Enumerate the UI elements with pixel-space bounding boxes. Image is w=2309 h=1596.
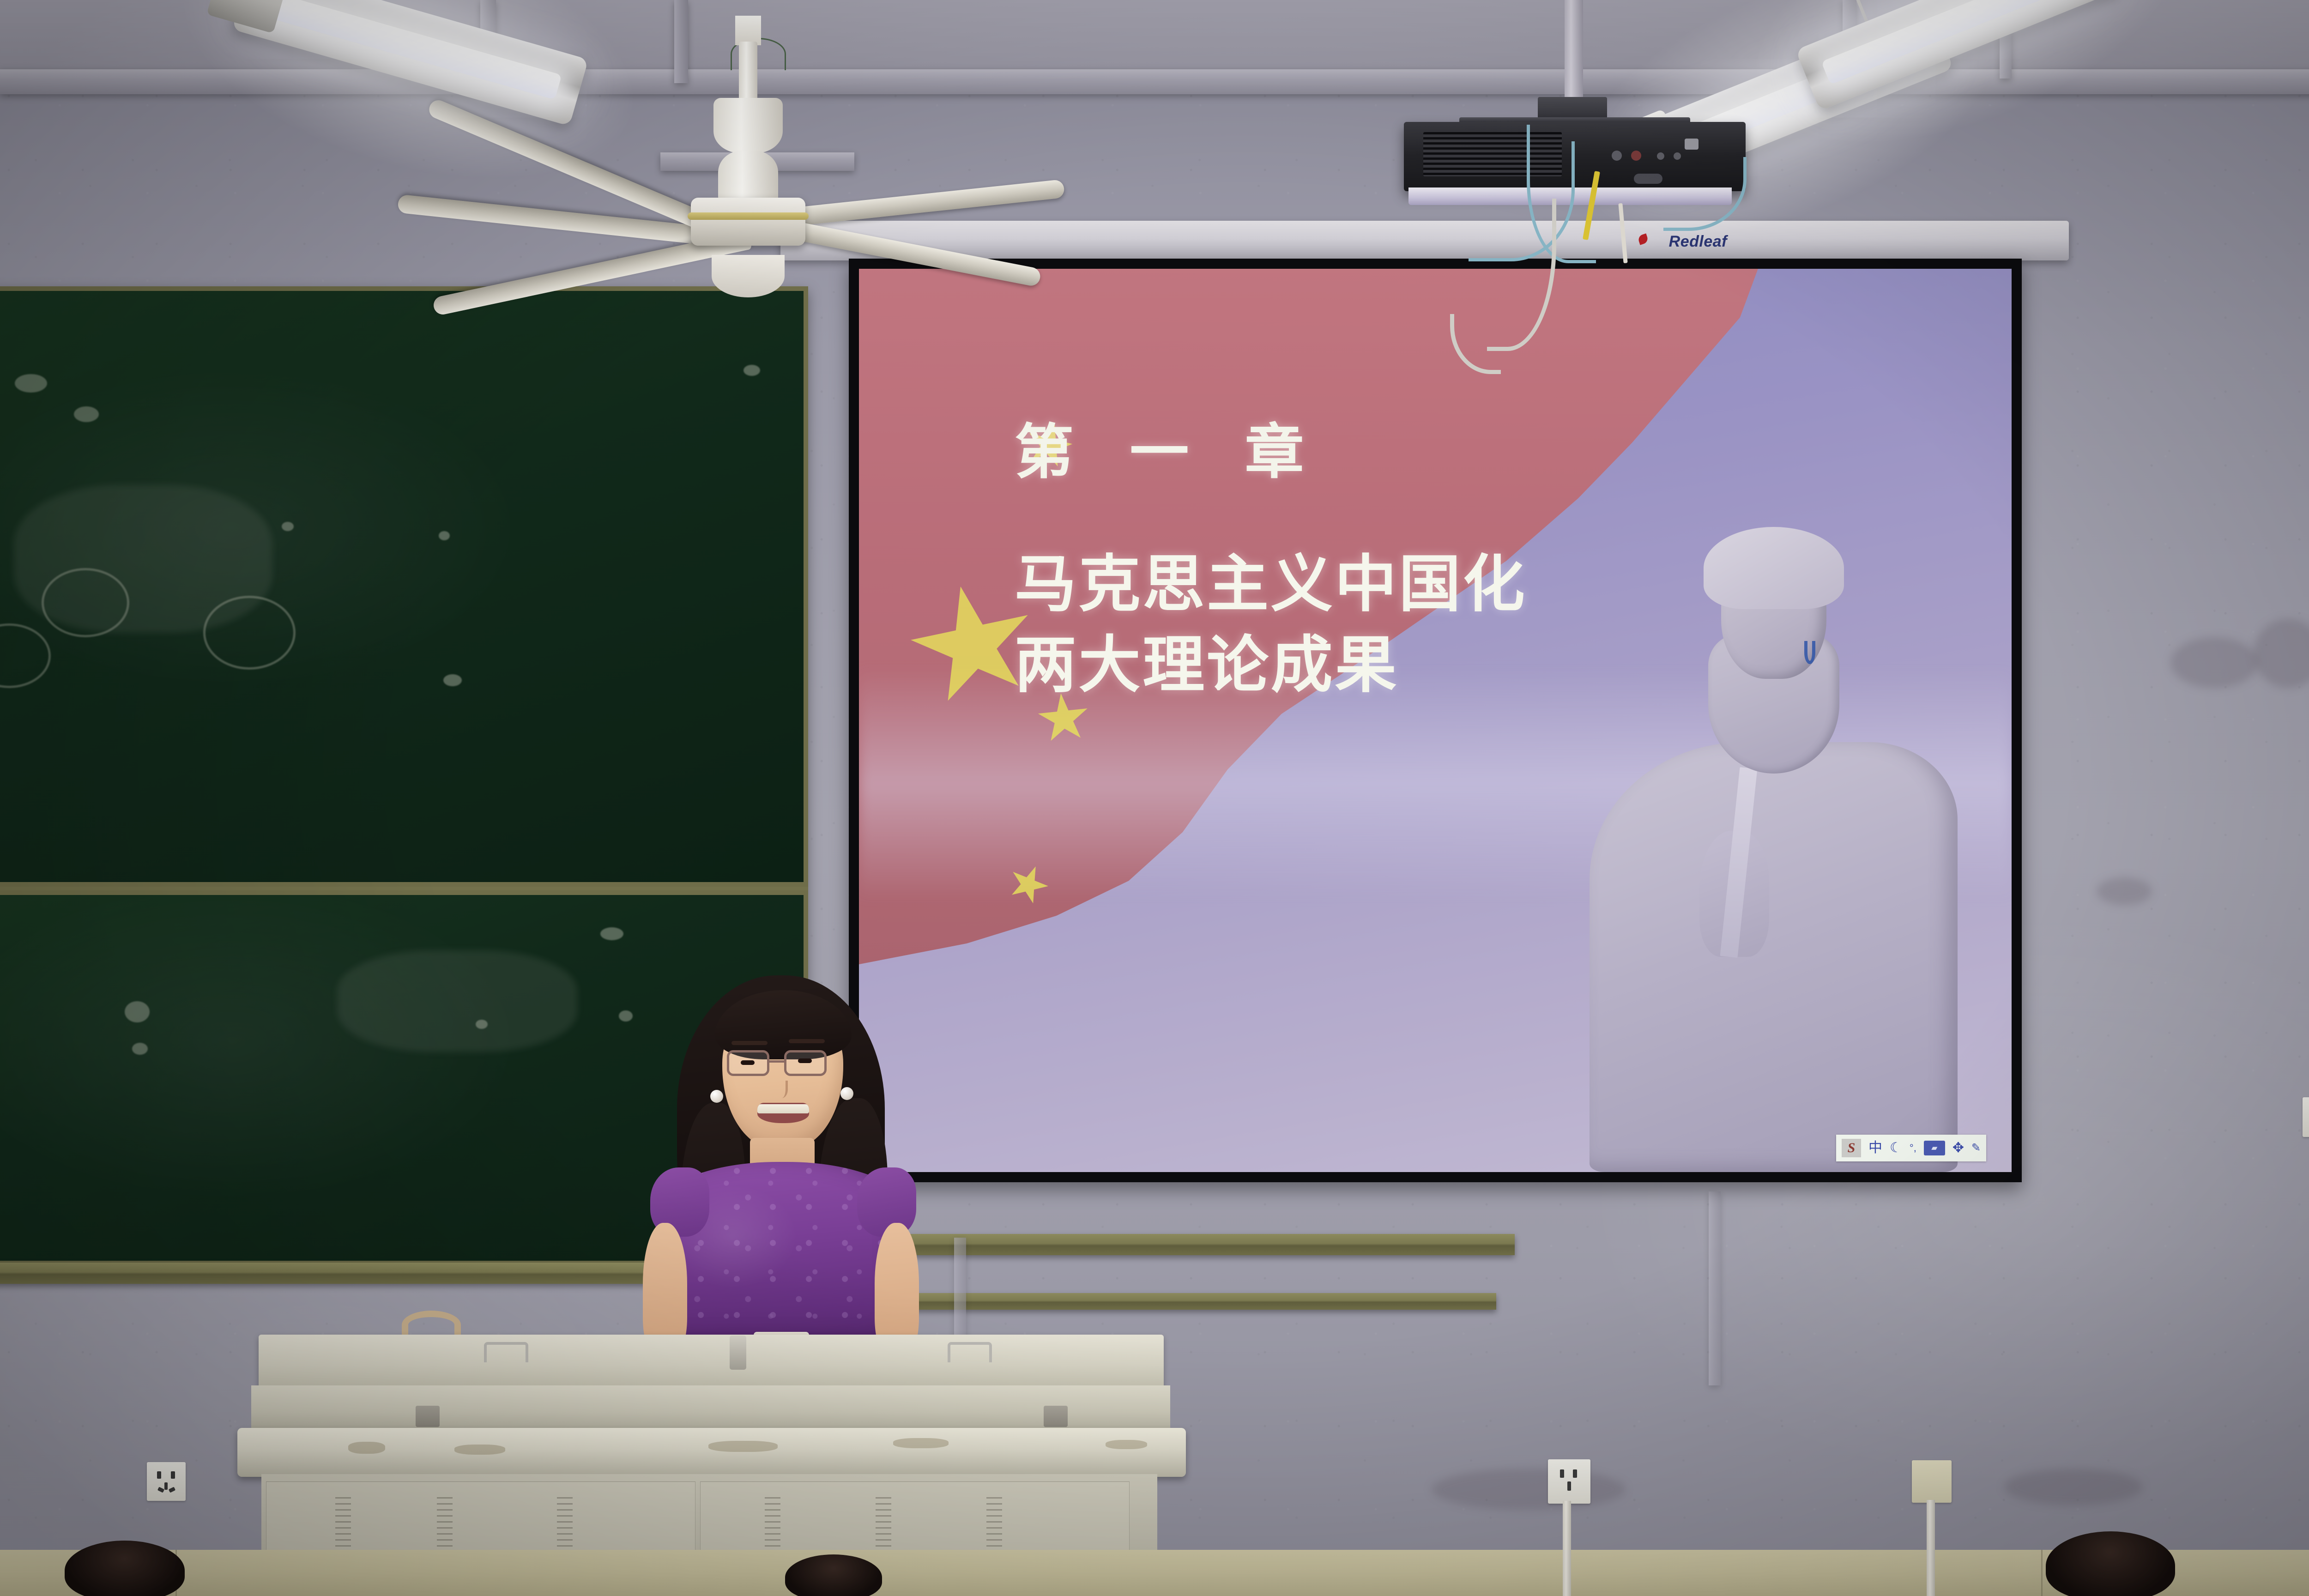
eye-left [741,1060,755,1065]
socket-pin [171,1471,175,1479]
marx-statue-image [1546,540,1984,1172]
projection-screen-frame: 第 一 章 马克思主义中国化 两大理论成果 S 中 ☾ °, ▰ ✥ [849,259,2022,1182]
power-socket-left[interactable] [147,1462,186,1501]
sogou-ime-toolbar[interactable]: S 中 ☾ °, ▰ ✥ ✎ [1836,1135,1986,1161]
teeth [757,1104,809,1113]
projector-vga-port [1634,174,1662,184]
chalk-dust [132,1043,148,1055]
wall-scuff [1432,1469,1626,1510]
classroom-photo: 设备编号 / 教室管理卡 Redleaf 第 一 章 马克思主义中国化 两大理论… [0,0,2309,1596]
chalk-dust [439,531,450,540]
chalk-tray-lower [850,1234,1515,1255]
wall-switch[interactable] [2303,1097,2309,1137]
smiling-mouth [757,1103,809,1123]
wrench-settings-icon[interactable]: ✎ [1971,1143,1981,1154]
fan-canopy [735,16,761,45]
podium-top-panel [259,1335,1164,1390]
blue-cable-overlay [1804,641,1815,664]
chalk-dust [443,674,462,686]
blackboard-panel-upper [0,286,808,887]
chalk-mark [0,623,51,688]
podium-lock-latch [730,1336,746,1370]
soft-keyboard-icon[interactable]: ▰ [1924,1141,1945,1155]
toolbox-icon[interactable]: ✥ [1952,1141,1964,1155]
fan-motor-housing-upper [713,98,783,153]
sogou-logo-icon[interactable]: S [1842,1139,1861,1157]
nose [776,1081,788,1098]
punctuation-mode-icon[interactable]: °, [1910,1143,1916,1153]
projected-slide: 第 一 章 马克思主义中国化 两大理论成果 S 中 ☾ °, ▰ ✥ [859,269,2012,1172]
statue-hair [1704,527,1844,609]
podium-handle-right [948,1342,992,1362]
socket-pin [1567,1481,1571,1491]
fan-hub-trim [688,212,809,220]
chalk-dust [15,374,47,393]
chalk-mark [203,596,296,670]
student-head [65,1541,185,1596]
earring-left [710,1090,723,1103]
wall-scuff [2097,877,2152,905]
socket-pin [169,1487,175,1493]
cable-conduit [1563,1501,1571,1596]
podium-hinge-left [416,1406,440,1427]
paint-chip [893,1438,949,1448]
chalk-dust [125,1001,150,1022]
baseboard-tile-strip [0,1550,2309,1596]
wall-scuff [2170,637,2258,688]
ceiling-projector [1404,97,1746,212]
redleaf-logo-icon [1637,233,1649,245]
socket-pin [157,1471,161,1479]
chalk-dust [619,1010,633,1022]
chalk-mark [42,568,129,637]
ceiling-beam-vertical [674,0,688,83]
podium-hinge-right [1044,1406,1068,1427]
fan-bottom-cap [712,255,785,297]
screen-brand-label: Redleaf [1669,233,1727,251]
chalk-dust [282,522,294,531]
paint-chip [1106,1440,1147,1449]
crescent-mode-icon[interactable]: ☾ [1890,1141,1902,1155]
chalk-dust [74,406,99,422]
chalk-tray-extension [850,1293,1496,1310]
socket-pin [1560,1469,1564,1478]
socket-pin [1573,1469,1577,1478]
power-socket-center[interactable] [1548,1459,1590,1504]
paint-chip [454,1445,505,1455]
chinese-mode-icon[interactable]: 中 [1868,1141,1882,1155]
lecturer [641,964,923,1348]
eye-right [798,1058,812,1063]
chalk-dust [600,927,623,940]
chalk-dust [743,365,760,376]
podium-front-lip [237,1428,1186,1477]
ceiling-fan [296,152,1201,291]
tile-seam [2041,1550,2043,1596]
projector-port [1631,151,1641,161]
projector-mount-pole [1565,0,1583,102]
screen-support-post [1709,1191,1721,1385]
socket-pin [164,1482,168,1490]
glasses-bridge [769,1060,784,1063]
paint-chip [348,1442,385,1454]
student-head [2046,1531,2175,1596]
slide-chapter-heading: 第 一 章 [1015,404,1844,490]
podium-lid-panel [251,1385,1170,1430]
statue-body [1590,742,1958,1172]
eyebrow-left [731,1041,768,1045]
podium-handle-left [484,1342,528,1362]
power-socket-right[interactable] [1912,1460,1952,1503]
glasses-lens-right [784,1050,827,1076]
projector-port [1612,151,1622,161]
chalk-smear [337,950,577,1052]
fan-hub [691,198,805,246]
student-head [785,1554,882,1596]
projector-status-led [1685,139,1699,150]
fan-downrod [739,42,757,101]
earring-right [840,1087,853,1100]
cable-conduit [1927,1500,1935,1596]
fan-motor-housing-lower [718,151,778,205]
wall-scuff [2004,1469,2143,1505]
socket-pin [157,1487,164,1493]
eyebrow-right [789,1039,825,1043]
sleeve-right [857,1167,916,1237]
paint-chip [708,1441,778,1452]
